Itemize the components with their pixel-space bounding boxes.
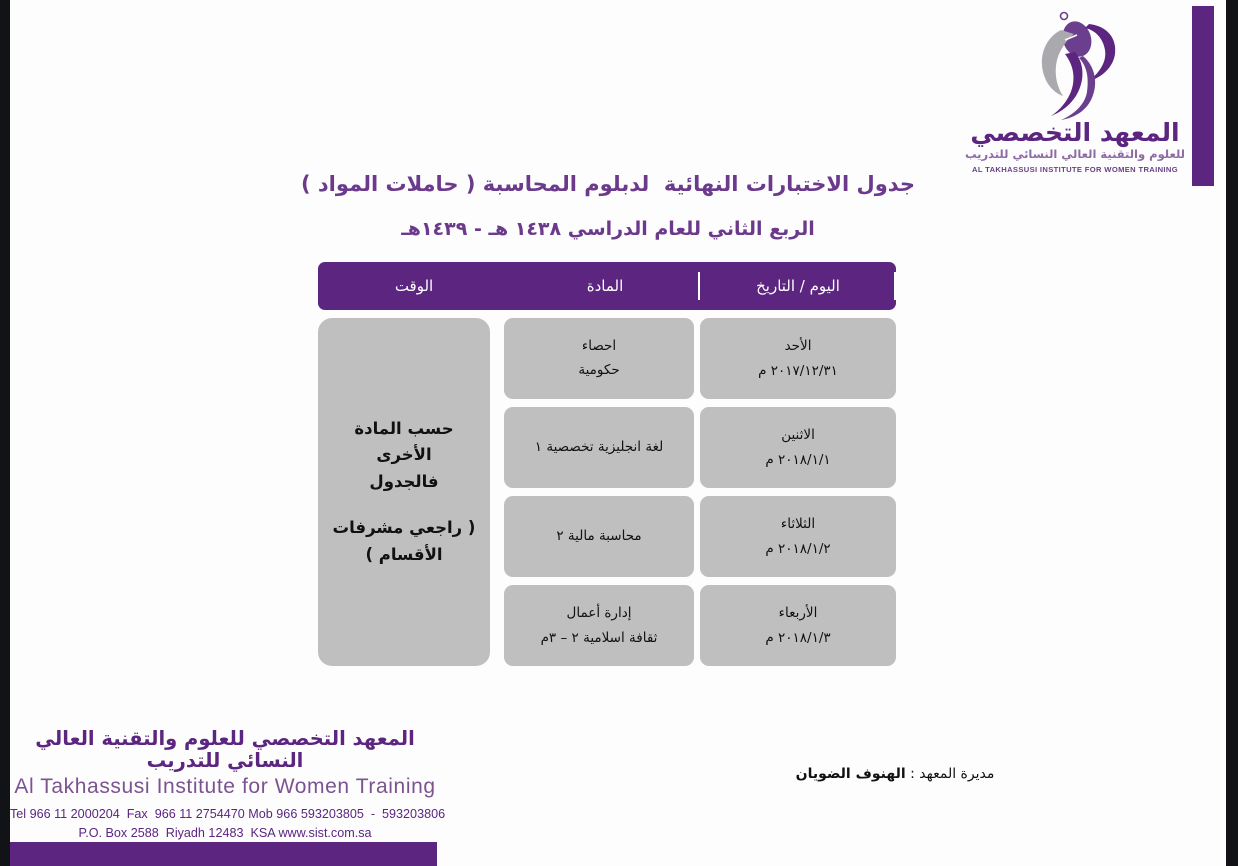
column-header-time: الوقت (318, 262, 510, 310)
footer-contact-phone: Tel 966 11 2000204 Fax 966 11 2754470 Mo… (10, 805, 440, 824)
decorative-bar-top-right (1192, 6, 1214, 186)
time-note-line-3: ( راجعي مشرفات (333, 515, 476, 541)
exam-schedule-table: اليوم / التاريخ المادة الوقت الأحد ٢٠١٧/… (318, 262, 896, 666)
day-label: الأربعاء (779, 603, 818, 624)
table-header-row: اليوم / التاريخ المادة الوقت (318, 262, 896, 310)
date-label: ٢٠١٧/١٢/٣١ م (758, 361, 838, 382)
table-row: الأحد ٢٠١٧/١٢/٣١ م (700, 318, 896, 399)
column-time: حسب المادة الأخرى فالجدول ( راجعي مشرفات… (318, 318, 490, 666)
table-row: الاثنين ٢٠١٨/١/١ م (700, 407, 896, 488)
subject-cell: إدارة أعمال ثقافة اسلامية ٢ – ٣م (504, 585, 694, 666)
time-note-cell: حسب المادة الأخرى فالجدول ( راجعي مشرفات… (318, 318, 490, 666)
subject-line-1: احصاء (582, 336, 616, 357)
table-row: الثلاثاء ٢٠١٨/١/٢ م (700, 496, 896, 577)
column-subject: احصاء حكومية لغة انجليزية تخصصية ١ محاسب… (504, 318, 694, 666)
director-signature: مديرة المعهد : الهنوف الضويان (760, 766, 1030, 782)
table-row: الأربعاء ٢٠١٨/١/٣ م (700, 585, 896, 666)
time-note-line-2: فالجدول (369, 469, 438, 495)
time-note-line-1: حسب المادة الأخرى (332, 416, 476, 469)
day-label: الأحد (785, 336, 812, 357)
dancing-figure-logo-icon (965, 4, 1185, 122)
logo-arabic-tagline: للعلوم والتقنية العالي النسائي للتدريب (965, 148, 1185, 162)
viewer-left-margin (0, 0, 10, 866)
director-name: الهنوف الضويان (796, 766, 906, 782)
subject-line-1: إدارة أعمال (567, 603, 632, 624)
subject-line-2: ثقافة اسلامية ٢ – ٣م (541, 628, 658, 649)
column-header-subject: المادة (510, 262, 700, 310)
document-page: المعهد التخصصي للعلوم والتقنية العالي ال… (0, 0, 1238, 866)
date-label: ٢٠١٨/١/٣ م (765, 628, 830, 649)
title-block: جدول الاختبارات النهائية لدبلوم المحاسبة… (0, 172, 1216, 240)
document-title: جدول الاختبارات النهائية لدبلوم المحاسبة… (0, 172, 1216, 196)
subject-cell: احصاء حكومية (504, 318, 694, 399)
date-label: ٢٠١٨/١/١ م (765, 450, 830, 471)
footer-arabic-name: المعهد التخصصي للعلوم والتقنية العالي ال… (10, 728, 440, 773)
day-label: الاثنين (781, 425, 815, 446)
decorative-bar-bottom-left (10, 842, 437, 866)
footer-english-name: Al Takhassusi Institute for Women Traini… (10, 774, 440, 800)
day-label: الثلاثاء (781, 514, 815, 535)
footer-block: المعهد التخصصي للعلوم والتقنية العالي ال… (10, 728, 440, 843)
director-label: مديرة المعهد : (906, 766, 995, 782)
time-note-line-4: الأقسام ) (365, 542, 442, 568)
subject-line-1: لغة انجليزية تخصصية ١ (535, 437, 663, 458)
column-header-date: اليوم / التاريخ (700, 262, 896, 310)
footer-contact-address: P.O. Box 2588 Riyadh 12483 KSA www.sist.… (10, 824, 440, 843)
viewer-right-margin (1226, 0, 1238, 866)
institute-logo: المعهد التخصصي للعلوم والتقنية العالي ال… (965, 4, 1185, 174)
logo-arabic-name: المعهد التخصصي (965, 120, 1185, 146)
subject-line-2: حكومية (578, 360, 619, 381)
table-body: الأحد ٢٠١٧/١٢/٣١ م الاثنين ٢٠١٨/١/١ م ال… (318, 318, 896, 666)
subject-line-1: محاسبة مالية ٢ (556, 526, 641, 547)
subject-cell: محاسبة مالية ٢ (504, 496, 694, 577)
subject-cell: لغة انجليزية تخصصية ١ (504, 407, 694, 488)
date-label: ٢٠١٨/١/٢ م (765, 539, 830, 560)
column-date: الأحد ٢٠١٧/١٢/٣١ م الاثنين ٢٠١٨/١/١ م ال… (700, 318, 896, 666)
document-subtitle: الربع الثاني للعام الدراسي ١٤٣٨ هـ - ١٤٣… (0, 218, 1216, 240)
